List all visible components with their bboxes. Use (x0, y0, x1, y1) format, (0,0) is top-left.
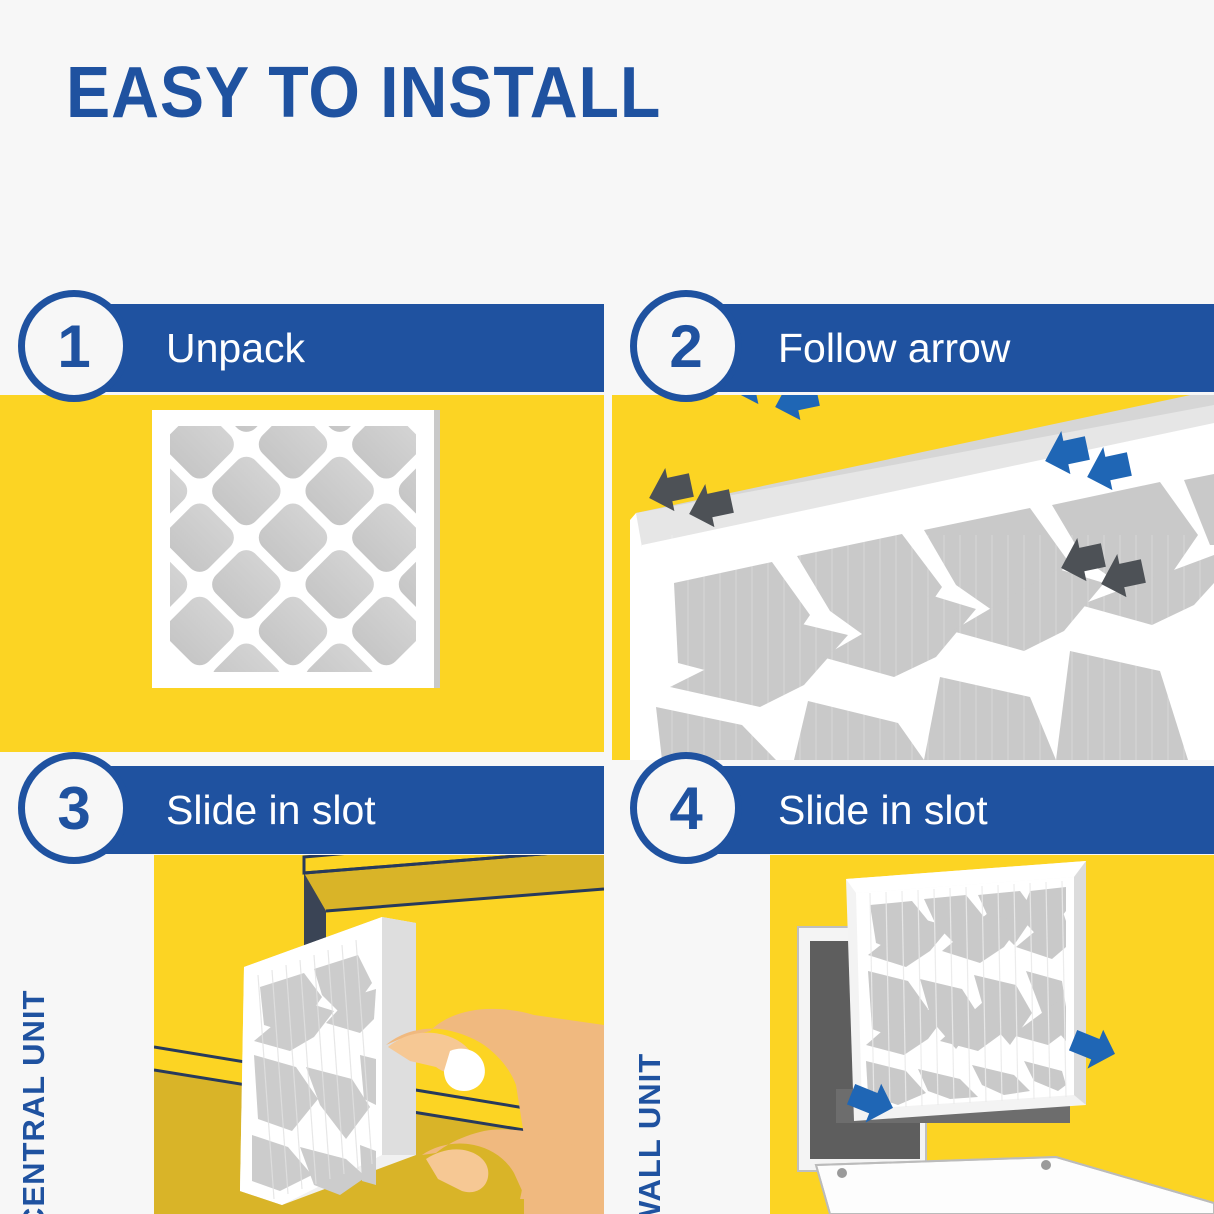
air-filter-flat-icon-4 (846, 861, 1086, 1121)
step-4-label: Slide in slot (778, 787, 988, 834)
step-2-banner: Follow arrow (660, 304, 1214, 392)
air-filter-tilted-icon-3 (240, 917, 426, 1205)
central-unit-side-label: CENTRAL UNIT (16, 990, 52, 1214)
step-2-illustration (612, 395, 1214, 760)
step-2-badge: 2 (630, 290, 742, 402)
air-filter-flat-icon (152, 410, 434, 688)
step-1-badge: 1 (18, 290, 130, 402)
airflow-arrow-blue-icon (718, 395, 898, 430)
step-2-number: 2 (669, 312, 702, 381)
install-infographic: EASY TO INSTALL (0, 0, 1214, 1214)
step-4-illustration (770, 855, 1214, 1214)
step-1-illustration (0, 395, 604, 752)
step-3-label: Slide in slot (166, 787, 376, 834)
step-3-number: 3 (57, 774, 90, 843)
step-3-banner: Slide in slot (74, 766, 604, 854)
step-4-badge: 4 (630, 752, 742, 864)
step-1-number: 1 (57, 312, 90, 381)
filter-mesh-svg (152, 410, 434, 688)
step-2-label: Follow arrow (778, 325, 1010, 372)
step-4-banner: Slide in slot (660, 766, 1214, 854)
step-3-badge: 3 (18, 752, 130, 864)
page-title: EASY TO INSTALL (66, 54, 661, 132)
step-4-number: 4 (669, 774, 702, 843)
step-1-banner: Unpack (74, 304, 604, 392)
step-1-label: Unpack (166, 325, 305, 372)
central-unit-icon (154, 855, 604, 1214)
wall-unit-side-label: WALL UNIT (632, 1053, 668, 1214)
step-3-illustration (154, 855, 604, 1214)
airflow-arrow-blue-icon-2 (1030, 395, 1210, 500)
wall-vent-icon (770, 855, 1214, 1214)
